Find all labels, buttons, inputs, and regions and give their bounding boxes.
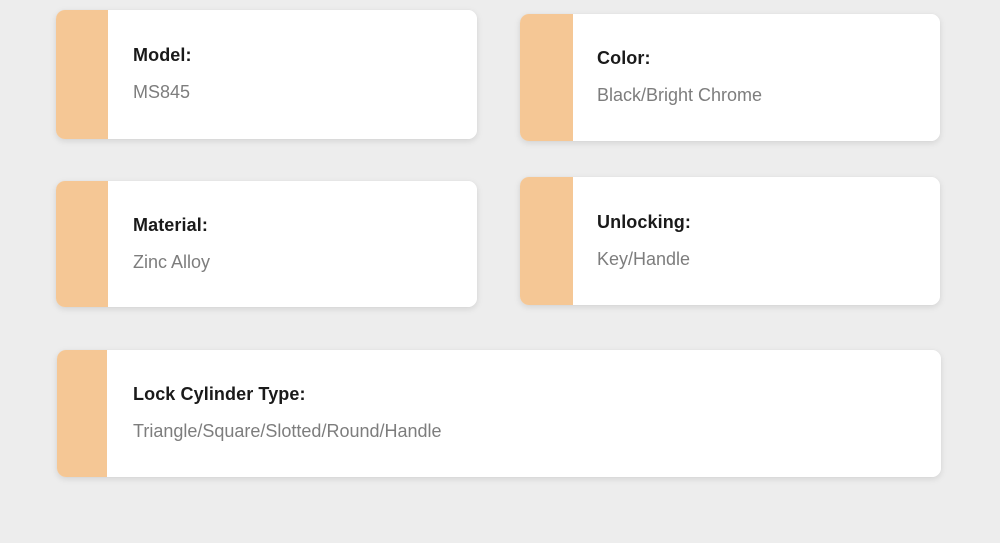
spec-card-body: Material: Zinc Alloy — [108, 181, 477, 307]
spec-label-model: Model: — [133, 46, 477, 66]
spec-label-color: Color: — [597, 49, 940, 69]
specification-card-board: Model: MS845 Color: Black/Bright Chrome … — [0, 0, 1000, 543]
spec-card-body: Model: MS845 — [108, 10, 477, 139]
spec-card-body: Lock Cylinder Type: Triangle/Square/Slot… — [107, 350, 941, 477]
spec-card-body: Unlocking: Key/Handle — [573, 177, 940, 305]
spec-card-lock-cylinder-type: Lock Cylinder Type: Triangle/Square/Slot… — [57, 350, 941, 477]
spec-label-unlocking: Unlocking: — [597, 213, 940, 233]
spec-label-material: Material: — [133, 216, 477, 236]
spec-card-material: Material: Zinc Alloy — [56, 181, 477, 307]
spec-card-body: Color: Black/Bright Chrome — [573, 14, 940, 141]
spec-label-lock-cylinder-type: Lock Cylinder Type: — [133, 385, 941, 405]
spec-card-model: Model: MS845 — [56, 10, 477, 139]
accent-bar — [520, 14, 573, 141]
spec-value-unlocking: Key/Handle — [597, 250, 940, 270]
accent-bar — [520, 177, 573, 305]
spec-value-color: Black/Bright Chrome — [597, 86, 940, 106]
accent-bar — [56, 181, 108, 307]
spec-value-material: Zinc Alloy — [133, 253, 477, 273]
accent-bar — [56, 10, 108, 139]
accent-bar — [57, 350, 107, 477]
spec-value-lock-cylinder-type: Triangle/Square/Slotted/Round/Handle — [133, 422, 941, 442]
spec-value-model: MS845 — [133, 83, 477, 103]
spec-card-unlocking: Unlocking: Key/Handle — [520, 177, 940, 305]
spec-card-color: Color: Black/Bright Chrome — [520, 14, 940, 141]
